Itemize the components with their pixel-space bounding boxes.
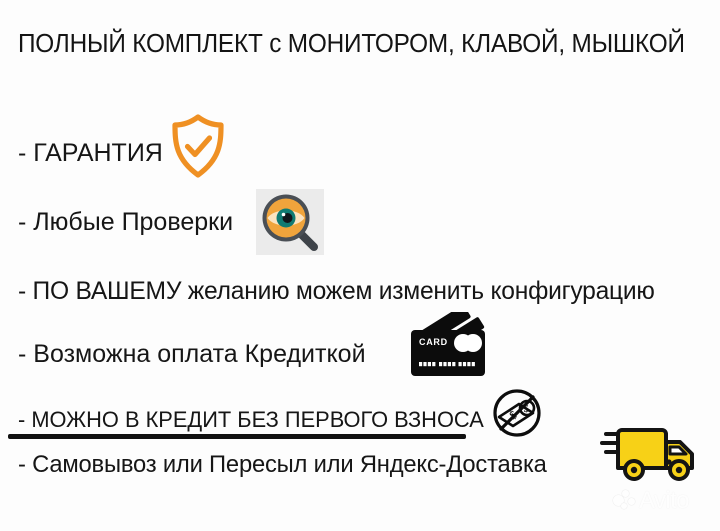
shield-check-icon [170, 113, 226, 179]
bullet-row-delivery: - Самовывоз или Пересыл или Яндекс-Доста… [18, 450, 547, 479]
bullet-row-guarantee: - ГАРАНТИЯ [18, 138, 163, 168]
bullet-label-checks: - Любые Проверки [18, 208, 233, 237]
avito-logo-icon [613, 490, 635, 512]
bullet-label-delivery: - Самовывоз или Пересыл или Яндекс-Доста… [18, 451, 547, 479]
bullet-row-credit: - МОЖНО В КРЕДИТ БЕЗ ПЕРВОГО ВЗНОСА [18, 406, 484, 433]
bullet-label-credit: - МОЖНО В КРЕДИТ БЕЗ ПЕРВОГО ВЗНОСА [18, 407, 484, 433]
bullet-label-card-payment: - Возможна оплата Кредиткой [18, 340, 366, 369]
bullet-label-configuration: - ПО ВАШЕМУ желанию можем изменить конфи… [18, 277, 655, 306]
bullet-label-guarantee: - ГАРАНТИЯ [18, 139, 163, 168]
credit-cards-icon: CARD [409, 312, 491, 380]
bullet-row-card-payment: - Возможна оплата Кредиткой [18, 339, 366, 369]
svg-text:CARD: CARD [419, 337, 448, 347]
delivery-truck-icon [600, 424, 704, 486]
bullet-row-configuration: - ПО ВАШЕМУ желанию можем изменить конфи… [18, 276, 655, 306]
page-title: ПОЛНЫЙ КОМПЛЕКТ с МОНИТОРОМ, КЛАВОЙ, МЫШ… [18, 30, 685, 59]
eye-magnifier-icon [256, 189, 324, 255]
bullet-row-checks: - Любые Проверки [18, 207, 233, 237]
avito-watermark: Avito [613, 487, 689, 515]
avito-brand-label: Avito [639, 487, 689, 515]
no-cash-icon: $ $ [489, 387, 545, 439]
section-divider [8, 434, 466, 439]
promo-image: ПОЛНЫЙ КОМПЛЕКТ с МОНИТОРОМ, КЛАВОЙ, МЫШ… [0, 0, 720, 531]
